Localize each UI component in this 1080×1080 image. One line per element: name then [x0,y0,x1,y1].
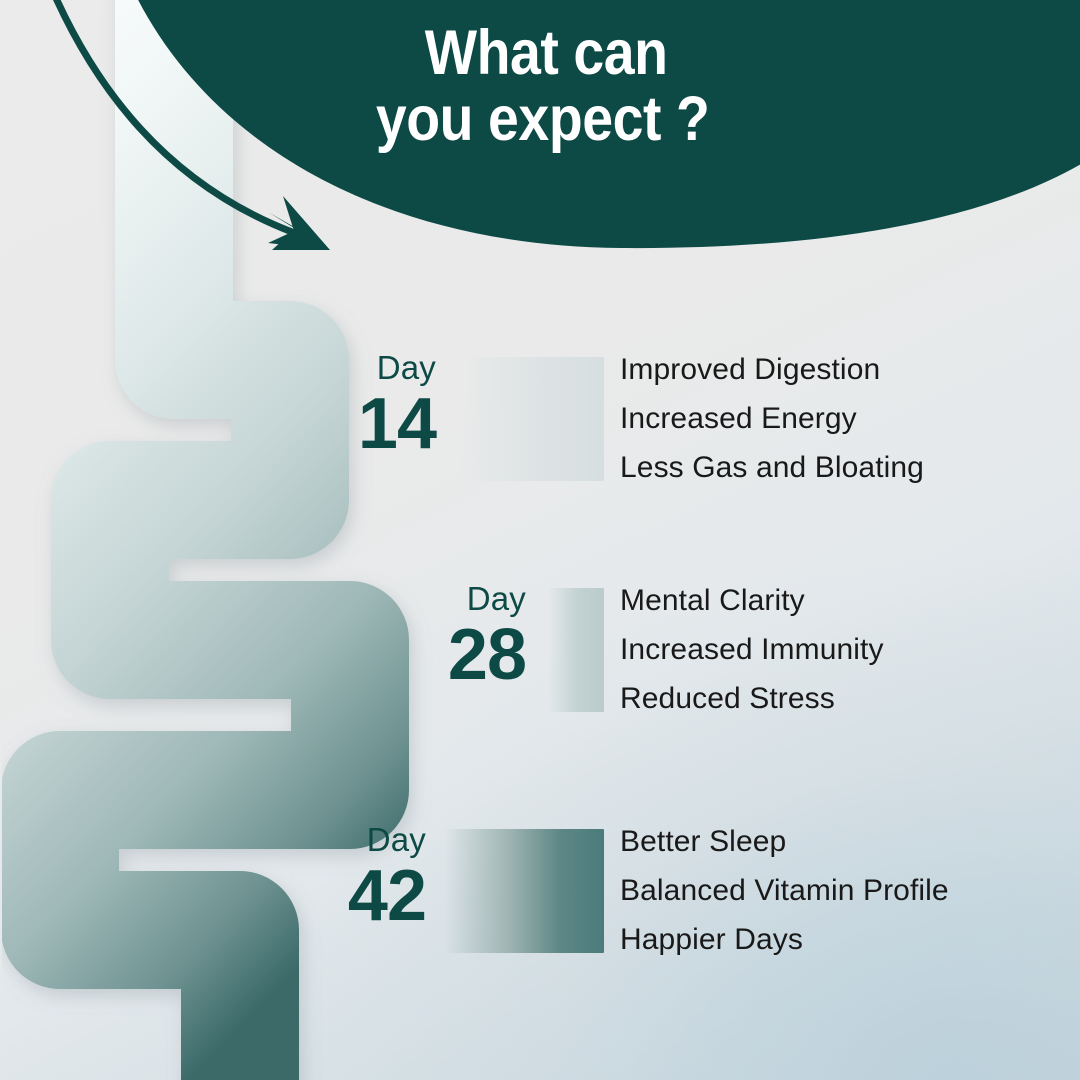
day-marker: Day 42 [290,823,426,932]
benefit-list: Improved Digestion Increased Energy Less… [620,345,924,492]
benefit-item: Mental Clarity [620,576,884,625]
benefit-item: Balanced Vitamin Profile [620,866,949,915]
day-marker: Day 28 [390,582,526,691]
benefit-list: Mental Clarity Increased Immunity Reduce… [620,576,884,723]
day-marker: Day 14 [300,351,436,460]
row-gradient-bar [445,829,604,953]
row-gradient-bar [548,588,604,712]
benefit-item: Improved Digestion [620,345,924,394]
benefit-item: Better Sleep [620,817,949,866]
row-gradient-bar [460,357,604,481]
benefit-item: Increased Energy [620,394,924,443]
benefit-item: Happier Days [620,915,949,964]
day-label: Day [300,351,436,384]
timeline-row: Day 14 Improved Digestion Increased Ener… [0,345,1080,505]
day-number: 14 [300,388,436,460]
day-number: 28 [390,619,526,691]
timeline-row: Day 28 Mental Clarity Increased Immunity… [0,576,1080,736]
timeline-row: Day 42 Better Sleep Balanced Vitamin Pro… [0,817,1080,977]
benefit-list: Better Sleep Balanced Vitamin Profile Ha… [620,817,949,964]
timeline-list: Day 14 Improved Digestion Increased Ener… [0,0,1080,1080]
benefit-item: Less Gas and Bloating [620,443,924,492]
day-number: 42 [290,860,426,932]
poster-canvas: What can you expect ? Day 14 Improved Di… [0,0,1080,1080]
benefit-item: Increased Immunity [620,625,884,674]
day-label: Day [290,823,426,856]
day-label: Day [390,582,526,615]
benefit-item: Reduced Stress [620,674,884,723]
